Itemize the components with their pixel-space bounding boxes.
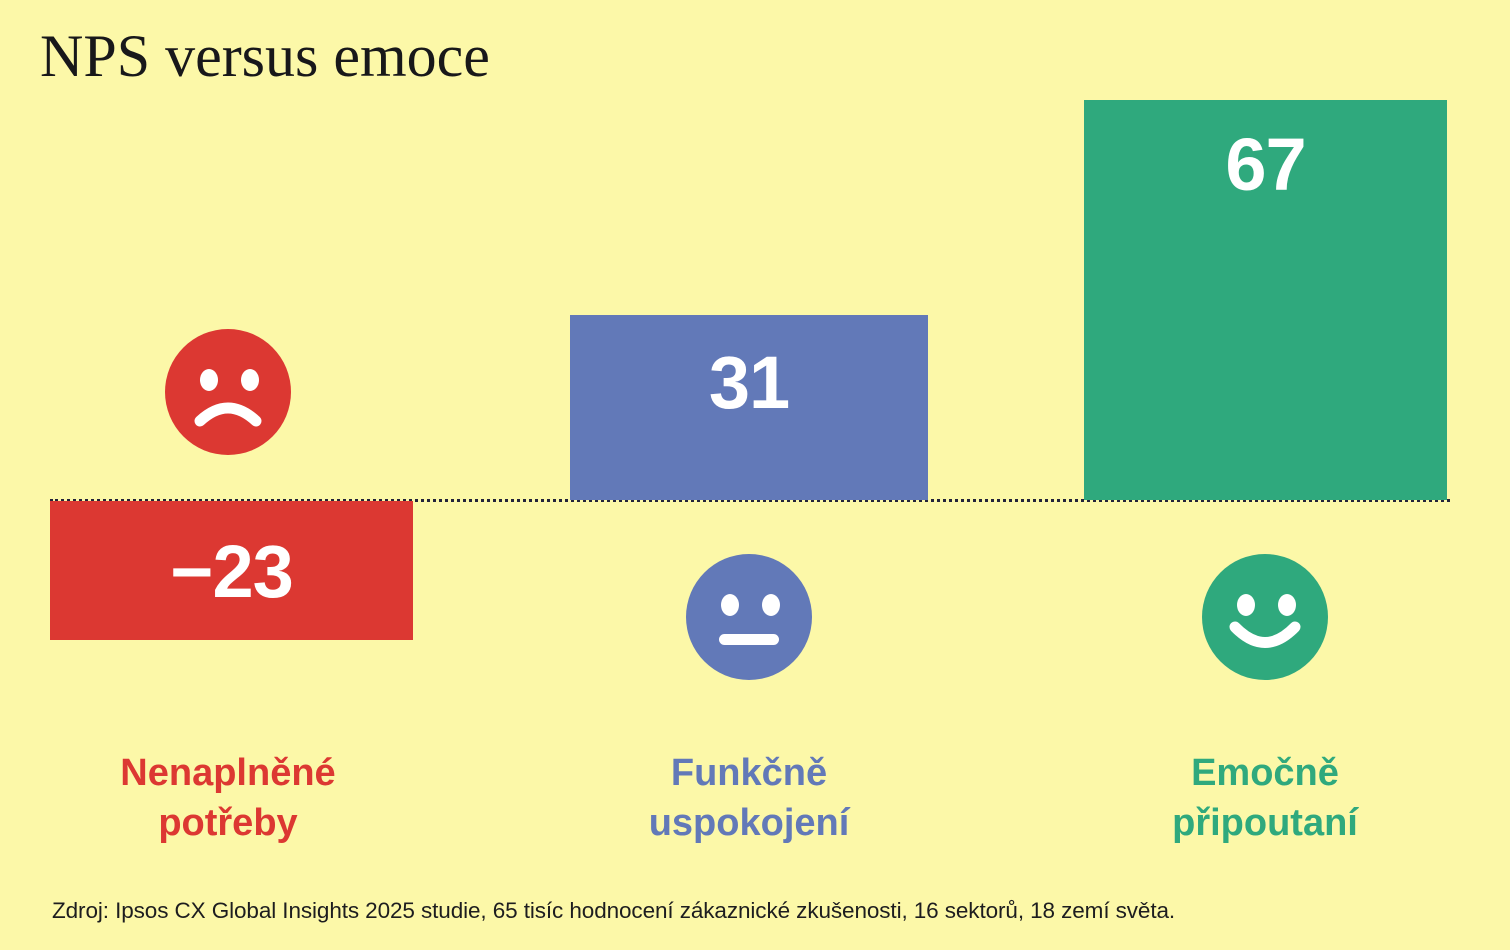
sad-face-icon (165, 329, 291, 455)
chart-container: NPS versus emoce −23 31 67 (0, 0, 1510, 950)
category-label-unmet-needs-line1: Nenaplněné (18, 748, 438, 798)
bar-value-functional-satisfaction: 31 (570, 346, 928, 420)
bar-value-emotional-attachment: 67 (1084, 128, 1447, 202)
category-label-emotional-attachment-line2: připoutaní (1055, 798, 1475, 848)
category-label-emotional-attachment: Emočně připoutaní (1055, 748, 1475, 848)
source-note: Zdroj: Ipsos CX Global Insights 2025 stu… (52, 898, 1175, 924)
category-label-functional-satisfaction-line1: Funkčně (539, 748, 959, 798)
neutral-face-icon (686, 554, 812, 680)
category-label-unmet-needs: Nenaplněné potřeby (18, 748, 438, 848)
plot-area: −23 31 67 (0, 0, 1510, 880)
bar-emotional-attachment: 67 (1084, 100, 1447, 500)
happy-face-icon (1202, 554, 1328, 680)
bar-unmet-needs: −23 (50, 501, 413, 640)
category-label-emotional-attachment-line1: Emočně (1055, 748, 1475, 798)
bar-value-unmet-needs: −23 (50, 535, 413, 609)
category-label-functional-satisfaction: Funkčně uspokojení (539, 748, 959, 848)
bar-functional-satisfaction: 31 (570, 315, 928, 500)
category-label-functional-satisfaction-line2: uspokojení (539, 798, 959, 848)
category-label-unmet-needs-line2: potřeby (18, 798, 438, 848)
